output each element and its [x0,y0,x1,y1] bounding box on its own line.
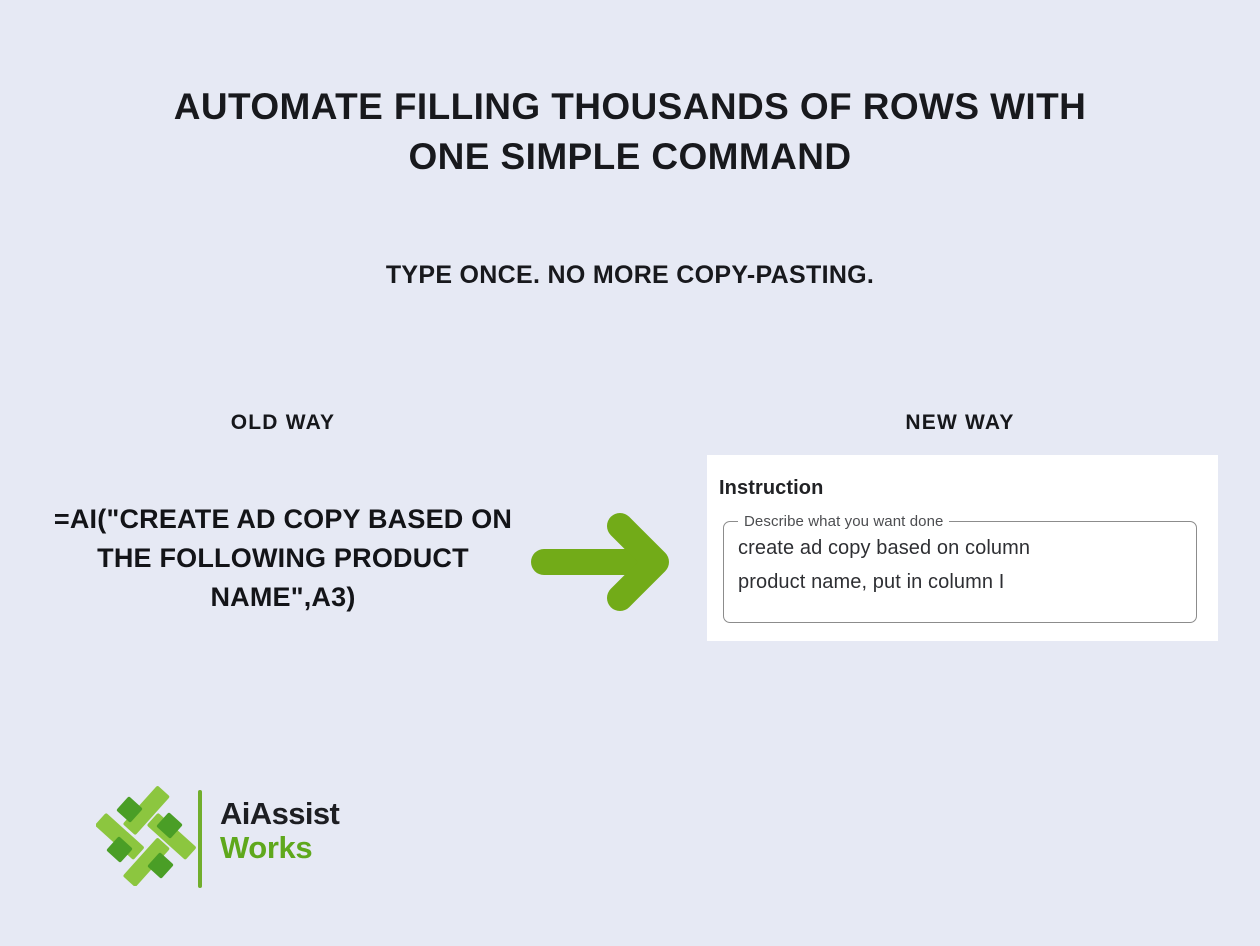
old-way-heading: Old Way [133,411,433,435]
new-way-heading: New Way [810,411,1110,435]
page-title: Automate filling thousands of rows with … [130,82,1130,183]
instruction-field-value[interactable]: create ad copy based on column product n… [724,530,1196,599]
instruction-panel: Instruction Describe what you want done … [707,455,1218,641]
logo-wordmark-primary: AiAssist [220,798,390,831]
aiassistworks-pinwheel-mark-icon [96,786,196,886]
poster-canvas: Automate filling thousands of rows with … [0,0,1260,946]
instruction-field-value-line-2: product name, put in column I [738,566,1182,600]
old-way-formula: =AI("create ad copy based on the followi… [33,500,533,617]
instruction-field-legend: Describe what you want done [738,513,949,530]
arrow-right-icon [528,512,680,612]
instruction-field-value-line-1: create ad copy based on column [738,532,1182,566]
logo-wordmark-secondary: Works [220,831,390,866]
logo-wordmark: AiAssist Works [220,798,390,865]
logo-divider [198,790,202,888]
instruction-panel-title: Instruction [719,477,823,500]
page-subtitle: Type once. No more copy-pasting. [130,259,1130,292]
instruction-input-field[interactable]: Describe what you want done create ad co… [723,513,1197,623]
brand-logo: AiAssist Works [96,782,386,894]
